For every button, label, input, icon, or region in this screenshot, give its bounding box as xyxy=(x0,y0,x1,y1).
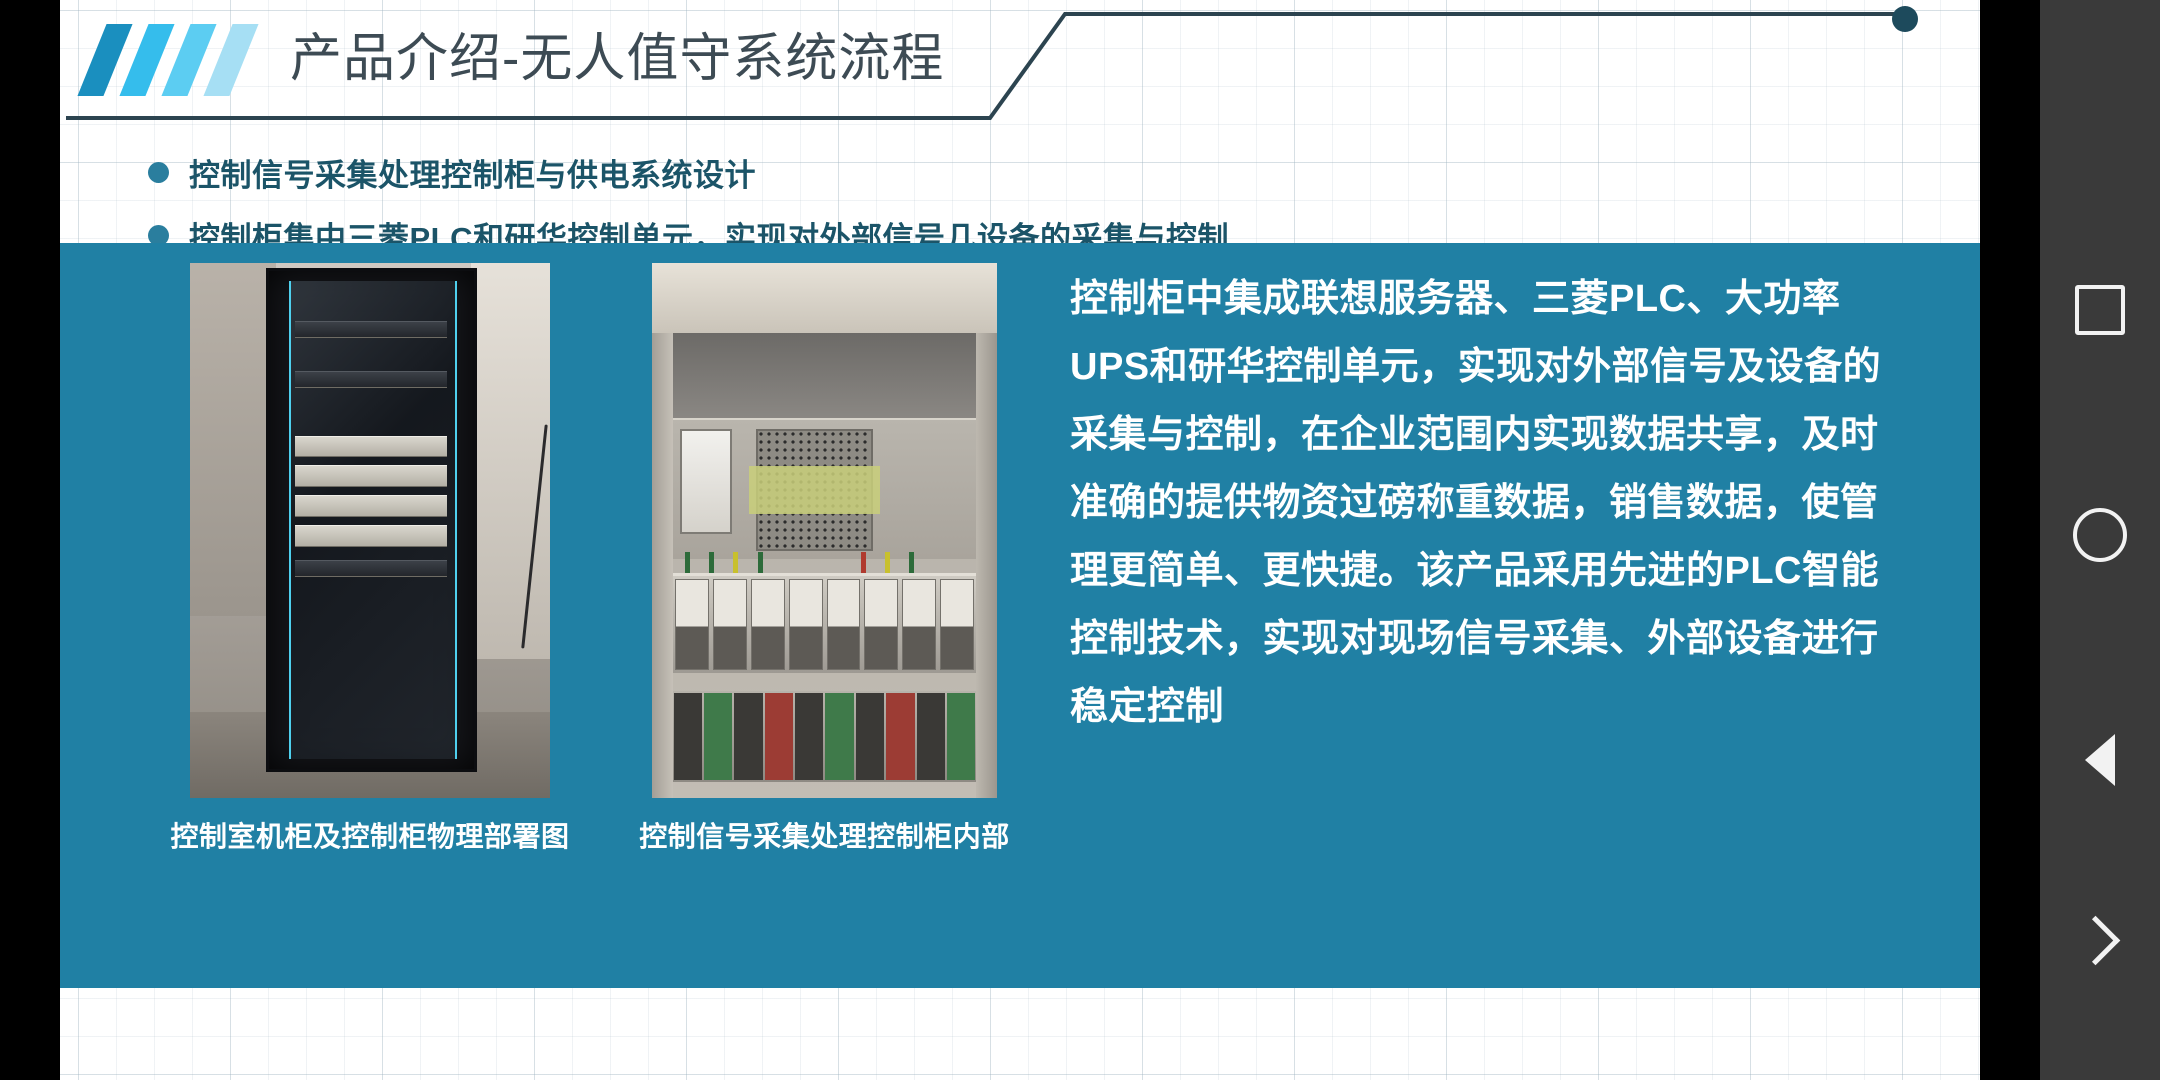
cabinet-terminal-row xyxy=(673,691,977,782)
cabinet-wire xyxy=(733,552,738,573)
cabinet-wire xyxy=(709,552,714,573)
cabinet-top xyxy=(652,263,997,333)
cabinet-right-edge xyxy=(976,333,997,798)
terminal xyxy=(674,693,702,780)
header-angle-line xyxy=(880,0,1980,124)
rack-unit xyxy=(295,436,447,458)
relay xyxy=(864,579,898,669)
rack-unit xyxy=(295,560,447,577)
terminal xyxy=(917,693,945,780)
rack-unit xyxy=(295,525,447,547)
cabinet-left-edge xyxy=(652,333,673,798)
square-icon xyxy=(2075,285,2125,335)
next-page-button[interactable] xyxy=(2040,880,2160,1000)
bullet-item-1: 控制信号采集处理控制柜与供电系统设计 xyxy=(148,150,1848,195)
body-paragraph: 控制柜中集成联想服务器、三菱PLC、大功率UPS和研华控制单元，实现对外部信号及… xyxy=(1070,265,1900,741)
cabinet-wire-row xyxy=(673,552,977,573)
presentation-stage: 产品介绍-无人值守系统流程 控制信号采集处理控制柜与供电系统设计 控制柜集中三菱… xyxy=(0,0,2040,1080)
photo-caption-2: 控制信号采集处理控制柜内部 xyxy=(632,816,1017,858)
cabinet-wire xyxy=(861,552,866,573)
cabinet-wire xyxy=(685,552,690,573)
back-button[interactable] xyxy=(2040,700,2160,820)
relay xyxy=(902,579,936,669)
rack-unit xyxy=(295,465,447,487)
relay xyxy=(751,579,785,669)
home-button[interactable] xyxy=(2040,475,2160,595)
rack-unit xyxy=(295,495,447,517)
cabinet-wire xyxy=(909,552,914,573)
relay xyxy=(827,579,861,669)
cabinet-relay-row xyxy=(673,573,977,672)
terminal xyxy=(856,693,884,780)
slide[interactable]: 产品介绍-无人值守系统流程 控制信号采集处理控制柜与供电系统设计 控制柜集中三菱… xyxy=(60,0,1980,1080)
relay xyxy=(789,579,823,669)
screen: 产品介绍-无人值守系统流程 控制信号采集处理控制柜与供电系统设计 控制柜集中三菱… xyxy=(0,0,2160,1080)
rack-wall-left xyxy=(190,263,276,616)
header-node-dot xyxy=(1892,6,1918,32)
rack-photo-illustration xyxy=(190,263,550,798)
rack-unit xyxy=(295,321,447,338)
cabinet-wire xyxy=(885,552,890,573)
cabinet-photo-illustration xyxy=(652,263,997,798)
rack-glass-door xyxy=(289,281,457,759)
terminal xyxy=(704,693,732,780)
page-title: 产品介绍-无人值守系统流程 xyxy=(290,22,944,96)
relay xyxy=(713,579,747,669)
terminal xyxy=(947,693,975,780)
terminal xyxy=(734,693,762,780)
triangle-left-icon xyxy=(2085,734,2115,786)
photo-control-room-rack xyxy=(190,263,550,798)
cabinet-wire xyxy=(758,552,763,573)
header-rule xyxy=(66,116,896,120)
bullet-label-1: 控制信号采集处理控制柜与供电系统设计 xyxy=(189,150,756,195)
terminal xyxy=(795,693,823,780)
relay xyxy=(940,579,974,669)
circle-icon xyxy=(2073,508,2127,562)
terminal xyxy=(886,693,914,780)
cabinet-shadow xyxy=(652,333,997,419)
cabinet-breaker xyxy=(680,429,732,535)
photo-cabinet-interior xyxy=(652,263,997,798)
cabinet-psu-label xyxy=(749,466,880,514)
chevron-right-icon xyxy=(2070,915,2119,964)
rack-cabinet xyxy=(266,268,477,772)
photo-caption-1: 控制室机柜及控制柜物理部署图 xyxy=(170,816,570,858)
android-navigation-bar xyxy=(2040,0,2160,1080)
rack-wall-right xyxy=(471,263,550,659)
rack-unit xyxy=(295,371,447,388)
slide-header: 产品介绍-无人值守系统流程 xyxy=(60,0,1980,124)
terminal xyxy=(825,693,853,780)
content-band: 控制室机柜及控制柜物理部署图 控制信号采集处理控制柜内部 控制柜中集成联想服务器… xyxy=(60,243,1980,988)
terminal xyxy=(765,693,793,780)
stripes-decoration xyxy=(88,24,258,96)
recents-button[interactable] xyxy=(2040,250,2160,370)
relay xyxy=(675,579,709,669)
bullet-dot-icon xyxy=(148,162,169,183)
